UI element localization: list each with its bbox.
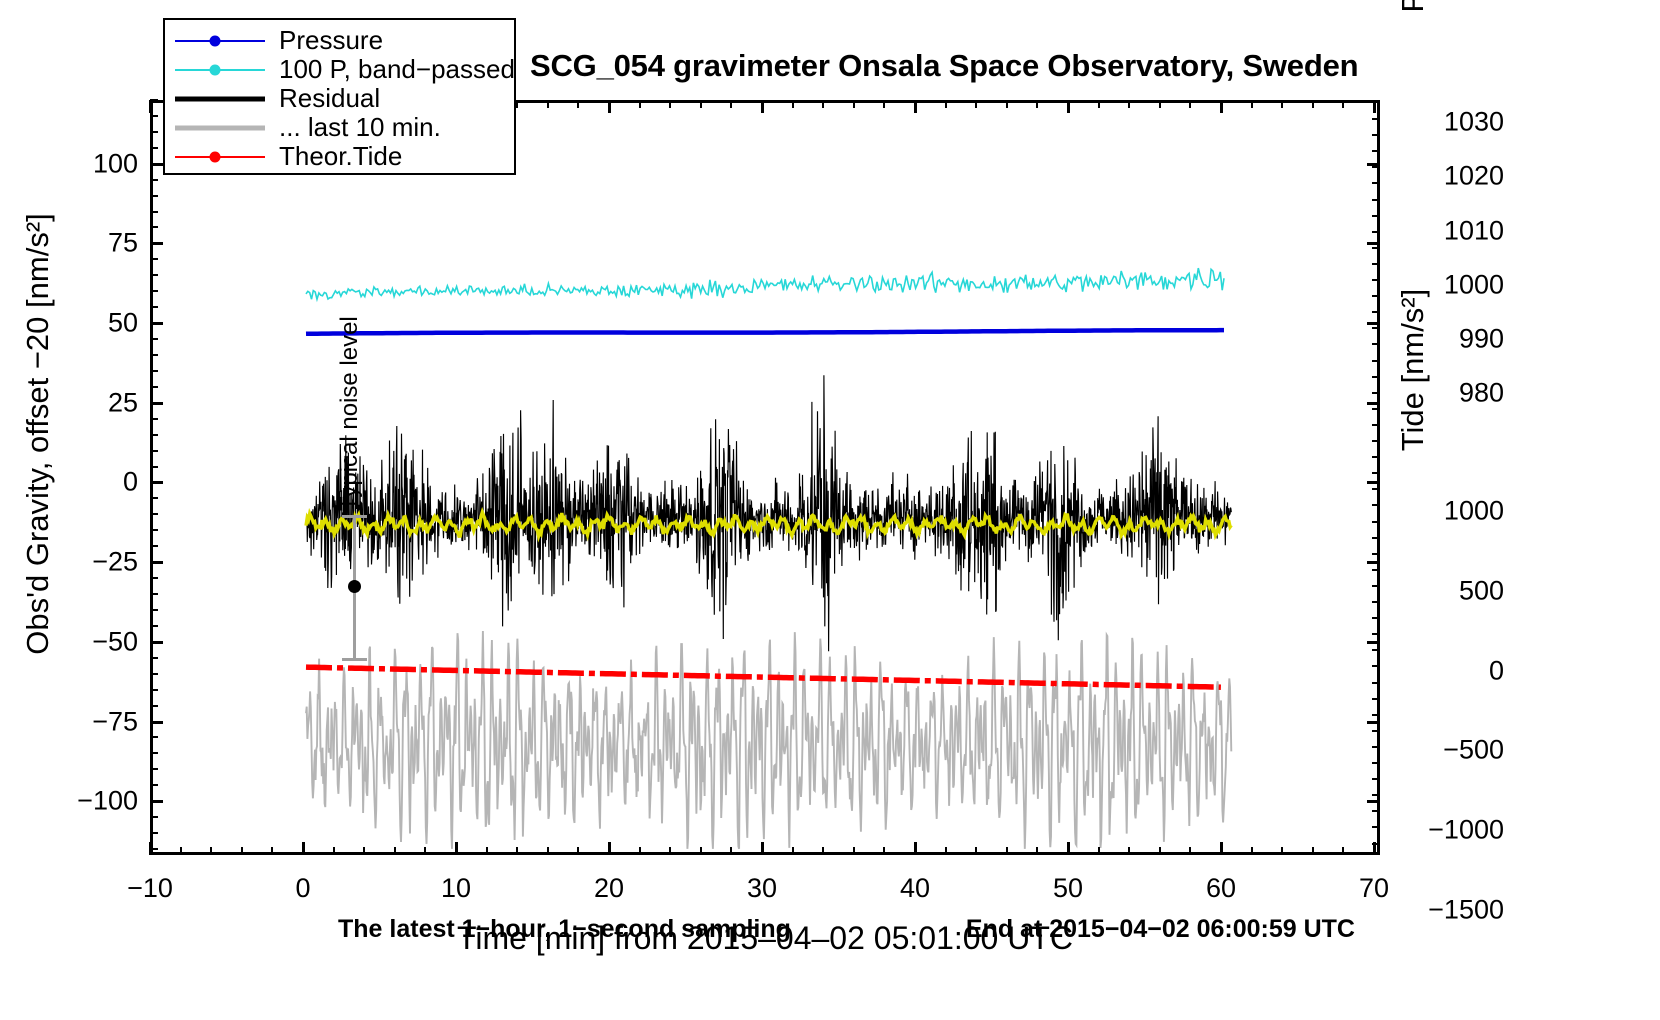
x-tick-minor-top xyxy=(730,100,732,108)
legend-key-1 xyxy=(175,60,265,80)
x-tick-minor-top xyxy=(1036,100,1038,108)
right-tick-minor xyxy=(1372,826,1380,828)
tide-tick-label-1: 500 xyxy=(1394,575,1504,606)
y-tick-minor xyxy=(150,115,158,117)
legend-line-2 xyxy=(175,96,265,101)
x-tick-major-top-6 xyxy=(1067,100,1070,113)
x-tick-minor-top xyxy=(1159,100,1161,108)
x-tick-minor xyxy=(424,847,426,855)
legend-key-2 xyxy=(175,89,265,109)
legend-item-3[interactable]: ... last 10 min. xyxy=(165,113,514,142)
end-time-note: End at 2015−04−02 06:00:59 UTC xyxy=(966,915,1355,944)
right-tick-minor xyxy=(1372,360,1380,362)
legend-dot-4 xyxy=(210,151,221,162)
y-tick-minor xyxy=(150,657,158,659)
noise-cap-bottom xyxy=(342,658,367,661)
right-tick-minor xyxy=(1372,794,1380,796)
x-tick-major-2 xyxy=(455,842,458,855)
x-tick-minor xyxy=(577,847,579,855)
y-tick-minor xyxy=(150,306,158,308)
x-tick-minor xyxy=(639,847,641,855)
y-tick-major-7 xyxy=(150,721,163,724)
x-tick-major-top-7 xyxy=(1220,100,1223,113)
right-tick-minor xyxy=(1372,714,1380,716)
chart-page: SCG_054 gravimeter Onsala Space Observat… xyxy=(0,0,1660,1020)
x-tick-minor-top xyxy=(883,100,885,108)
x-tick-minor xyxy=(363,847,365,855)
y-tick-minor xyxy=(150,705,158,707)
x-tick-minor-top xyxy=(1251,100,1253,108)
x-tick-minor-top xyxy=(945,100,947,108)
right-tick-minor xyxy=(1372,215,1380,217)
tide-tick-label-2: 0 xyxy=(1394,655,1504,686)
y-tick-minor xyxy=(150,195,158,197)
x-tick-major-top-8 xyxy=(1373,100,1376,113)
x-tick-minor xyxy=(1128,847,1130,855)
y-tick-minor xyxy=(150,226,158,228)
y-tick-major-right-2 xyxy=(1367,322,1380,325)
x-tick-label-2: 10 xyxy=(396,873,516,904)
y-tick-major-8 xyxy=(150,800,163,803)
legend-label-3: ... last 10 min. xyxy=(279,112,441,143)
x-tick-minor xyxy=(271,847,273,855)
legend-key-3 xyxy=(175,118,265,138)
x-tick-minor-top xyxy=(577,100,579,108)
x-tick-minor xyxy=(1312,847,1314,855)
x-tick-minor xyxy=(1159,847,1161,855)
y-tick-minor xyxy=(150,179,158,181)
right-tick-minor xyxy=(1372,118,1380,120)
y-tick-label-8: −100 xyxy=(28,786,138,817)
x-tick-minor xyxy=(1036,847,1038,855)
right-tick-minor xyxy=(1372,263,1380,265)
y-tick-minor xyxy=(150,784,158,786)
y-tick-major-right-4 xyxy=(1367,481,1380,484)
y-tick-minor xyxy=(150,290,158,292)
tide-tick-label-4: −1000 xyxy=(1394,814,1504,845)
y-tick-minor xyxy=(150,673,158,675)
y-tick-major-right-5 xyxy=(1367,561,1380,564)
x-tick-label-6: 50 xyxy=(1008,873,1128,904)
y-tick-minor xyxy=(150,497,158,499)
legend-label-2: Residual xyxy=(279,83,380,114)
x-tick-minor xyxy=(516,847,518,855)
y-tick-minor xyxy=(150,529,158,531)
right-tick-minor xyxy=(1372,665,1380,667)
noise-cap-top xyxy=(342,515,367,518)
y-tick-major-5 xyxy=(150,561,163,564)
legend-item-0[interactable]: Pressure xyxy=(165,26,514,55)
x-tick-minor xyxy=(945,847,947,855)
right-tick-minor xyxy=(1372,843,1380,845)
x-tick-minor-top xyxy=(792,100,794,108)
right-tick-minor xyxy=(1372,488,1380,490)
noise-level-label: Typical noise level xyxy=(336,316,364,511)
right-tick-minor xyxy=(1372,730,1380,732)
right-tick-minor xyxy=(1372,424,1380,426)
right-tick-minor xyxy=(1372,569,1380,571)
x-tick-minor xyxy=(180,847,182,855)
x-tick-major-top-3 xyxy=(608,100,611,113)
y-tick-major-right-1 xyxy=(1367,242,1380,245)
right-tick-minor xyxy=(1372,698,1380,700)
y-tick-minor xyxy=(150,434,158,436)
x-tick-label-7: 60 xyxy=(1161,873,1281,904)
x-tick-label-1: 0 xyxy=(243,873,363,904)
y-tick-major-right-8 xyxy=(1367,800,1380,803)
legend-item-1[interactable]: 100 P, band−passed xyxy=(165,55,514,84)
y-tick-minor xyxy=(150,832,158,834)
x-tick-minor-top xyxy=(547,100,549,108)
right-tick-minor xyxy=(1372,279,1380,281)
x-tick-minor xyxy=(1006,847,1008,855)
right-tick-minor xyxy=(1372,617,1380,619)
x-tick-minor-top xyxy=(975,100,977,108)
right-tick-minor xyxy=(1372,762,1380,764)
x-tick-major-top-5 xyxy=(914,100,917,113)
x-tick-minor xyxy=(1251,847,1253,855)
x-tick-label-5: 40 xyxy=(855,873,975,904)
tide-tick-label-3: −500 xyxy=(1394,735,1504,766)
right-tick-minor xyxy=(1372,376,1380,378)
noise-center-dot xyxy=(348,580,361,593)
y-tick-minor xyxy=(150,274,158,276)
x-tick-major-top-4 xyxy=(761,100,764,113)
y-tick-minor xyxy=(150,386,158,388)
page-title: SCG_054 gravimeter Onsala Space Observat… xyxy=(530,48,1430,84)
y-tick-major-right-3 xyxy=(1367,402,1380,405)
x-tick-minor xyxy=(853,847,855,855)
y-tick-major-6 xyxy=(150,641,163,644)
right-axis-title-pressure: Pressure [hPa] xyxy=(1395,0,1431,130)
y-tick-major-1 xyxy=(150,242,163,245)
legend-label-4: Theor.Tide xyxy=(279,141,402,172)
right-tick-minor xyxy=(1372,633,1380,635)
x-tick-minor-top xyxy=(1006,100,1008,108)
y-tick-minor xyxy=(150,211,158,213)
x-tick-label-0: −10 xyxy=(90,873,210,904)
right-tick-minor xyxy=(1372,537,1380,539)
right-tick-minor xyxy=(1372,392,1380,394)
y-axis-title: Obs'd Gravity, offset −20 [nm/s²] xyxy=(20,114,56,754)
x-tick-minor xyxy=(883,847,885,855)
right-tick-minor xyxy=(1372,311,1380,313)
right-tick-minor xyxy=(1372,199,1380,201)
y-tick-minor xyxy=(150,338,158,340)
y-tick-minor xyxy=(150,131,158,133)
legend-item-2[interactable]: Residual xyxy=(165,84,514,113)
legend-key-0 xyxy=(175,31,265,51)
right-tick-minor xyxy=(1372,327,1380,329)
x-tick-major-6 xyxy=(1067,842,1070,855)
x-tick-minor-top xyxy=(853,100,855,108)
right-tick-minor xyxy=(1372,553,1380,555)
right-tick-minor xyxy=(1372,504,1380,506)
legend-dot-0 xyxy=(210,35,221,46)
x-tick-major-1 xyxy=(302,842,305,855)
right-tick-minor xyxy=(1372,521,1380,523)
x-tick-minor xyxy=(975,847,977,855)
x-tick-minor-top xyxy=(669,100,671,108)
y-tick-minor xyxy=(150,768,158,770)
right-tick-minor xyxy=(1372,778,1380,780)
y-tick-major-right-0 xyxy=(1367,163,1380,166)
right-tick-minor xyxy=(1372,585,1380,587)
legend-item-4[interactable]: Theor.Tide xyxy=(165,142,514,171)
x-tick-major-3 xyxy=(608,842,611,855)
right-tick-minor xyxy=(1372,440,1380,442)
right-tick-minor xyxy=(1372,810,1380,812)
x-tick-label-3: 20 xyxy=(549,873,669,904)
x-tick-minor-top xyxy=(1128,100,1130,108)
legend-label-1: 100 P, band−passed xyxy=(279,54,515,85)
right-tick-minor xyxy=(1372,746,1380,748)
x-tick-major-0 xyxy=(149,842,152,855)
x-tick-label-4: 30 xyxy=(702,873,822,904)
x-tick-major-5 xyxy=(914,842,917,855)
sampling-note: The latest 1−hour, 1−second sampling xyxy=(338,915,791,944)
x-tick-minor-top xyxy=(1098,100,1100,108)
x-tick-minor xyxy=(394,847,396,855)
x-tick-minor xyxy=(730,847,732,855)
x-tick-minor xyxy=(547,847,549,855)
x-tick-minor-top xyxy=(1342,100,1344,108)
right-tick-minor xyxy=(1372,343,1380,345)
y-tick-major-right-7 xyxy=(1367,721,1380,724)
x-tick-minor-top xyxy=(1312,100,1314,108)
x-tick-minor xyxy=(700,847,702,855)
right-axis-title-tide: Tide [nm/s²] xyxy=(1395,180,1431,560)
y-tick-minor xyxy=(150,816,158,818)
x-tick-minor-top xyxy=(700,100,702,108)
y-tick-minor xyxy=(150,418,158,420)
y-tick-minor xyxy=(150,609,158,611)
y-tick-minor xyxy=(150,513,158,515)
right-tick-minor xyxy=(1372,231,1380,233)
x-tick-minor-top xyxy=(1189,100,1191,108)
y-tick-minor xyxy=(150,466,158,468)
right-tick-minor xyxy=(1372,456,1380,458)
x-tick-minor-top xyxy=(516,100,518,108)
y-tick-minor xyxy=(150,577,158,579)
y-tick-major-3 xyxy=(150,402,163,405)
y-tick-minor xyxy=(150,354,158,356)
y-tick-minor xyxy=(150,752,158,754)
y-tick-minor xyxy=(150,625,158,627)
right-tick-minor xyxy=(1372,166,1380,168)
x-tick-major-7 xyxy=(1220,842,1223,855)
legend-key-4 xyxy=(175,147,265,167)
x-tick-minor xyxy=(486,847,488,855)
x-tick-minor xyxy=(669,847,671,855)
plot-frame: The latest 1−hour, 1−second sampling End… xyxy=(150,100,1380,855)
legend-dot-1 xyxy=(210,64,221,75)
x-tick-minor xyxy=(792,847,794,855)
tide-tick-label-5: −1500 xyxy=(1394,894,1504,925)
right-tick-minor xyxy=(1372,649,1380,651)
right-tick-minor xyxy=(1372,682,1380,684)
y-tick-minor xyxy=(150,370,158,372)
y-tick-minor xyxy=(150,689,158,691)
right-tick-minor xyxy=(1372,247,1380,249)
y-tick-major-right-6 xyxy=(1367,641,1380,644)
right-tick-minor xyxy=(1372,182,1380,184)
x-tick-minor xyxy=(1189,847,1191,855)
y-tick-minor xyxy=(150,258,158,260)
right-tick-minor xyxy=(1372,601,1380,603)
y-tick-major-0 xyxy=(150,163,163,166)
x-tick-major-top-0 xyxy=(149,100,152,113)
x-tick-minor xyxy=(1098,847,1100,855)
y-tick-minor xyxy=(150,450,158,452)
y-tick-major-4 xyxy=(150,481,163,484)
legend-label-0: Pressure xyxy=(279,25,383,56)
right-tick-minor xyxy=(1372,472,1380,474)
right-tick-minor xyxy=(1372,150,1380,152)
x-tick-minor xyxy=(1342,847,1344,855)
y-tick-minor xyxy=(150,545,158,547)
y-tick-minor xyxy=(150,593,158,595)
right-tick-minor xyxy=(1372,295,1380,297)
x-tick-minor xyxy=(1281,847,1283,855)
noise-level-marker: Typical noise level xyxy=(328,501,398,691)
y-tick-major-2 xyxy=(150,322,163,325)
y-tick-minor xyxy=(150,147,158,149)
y-tick-minor xyxy=(150,736,158,738)
right-tick-minor xyxy=(1372,134,1380,136)
x-tick-minor-top xyxy=(639,100,641,108)
x-tick-major-4 xyxy=(761,842,764,855)
x-tick-minor-top xyxy=(1281,100,1283,108)
legend[interactable]: Pressure 100 P, band−passed Residual ...… xyxy=(163,18,516,175)
right-tick-minor xyxy=(1372,408,1380,410)
x-tick-minor-top xyxy=(822,100,824,108)
x-tick-minor xyxy=(241,847,243,855)
legend-line-3 xyxy=(175,125,265,130)
x-tick-minor xyxy=(822,847,824,855)
x-tick-minor xyxy=(210,847,212,855)
x-tick-minor xyxy=(333,847,335,855)
